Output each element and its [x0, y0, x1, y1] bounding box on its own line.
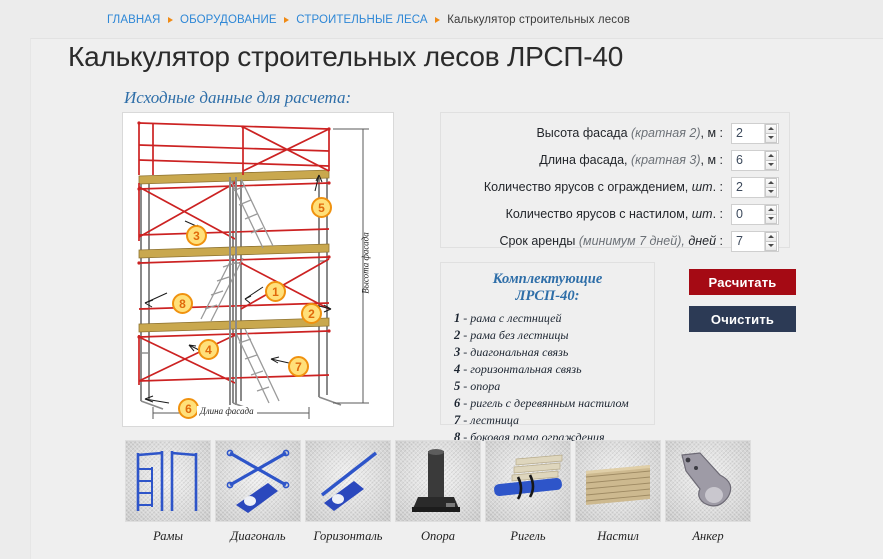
thumbnail-caption: Ригель [485, 529, 571, 544]
form-row-facade-length: Длина фасада, (кратная 3), м : [441, 147, 789, 173]
thumbnail-caption: Горизонталь [305, 529, 391, 544]
input-tiers-with-railing[interactable] [732, 178, 762, 197]
thumbnail-caption: Анкер [665, 529, 751, 544]
scaffolding-diagram-panel: 1 2 3 4 5 6 7 8 Высота фасада Длина фаса… [122, 112, 394, 427]
wooden-deck-icon[interactable] [575, 440, 661, 522]
chevron-up-icon [768, 208, 774, 211]
components-title: Комплектующие ЛРСП-40: [441, 271, 654, 304]
form-row-tiers-with-decking: Количество ярусов с настилом, шт. : [441, 201, 789, 227]
breadcrumb-item-home[interactable]: ГЛАВНАЯ [107, 14, 160, 26]
chevron-down-icon [768, 136, 774, 139]
breadcrumb-item-scaffolding[interactable]: СТРОИТЕЛЬНЫЕ ЛЕСА [296, 14, 427, 26]
dimension-label-length: Длина фасада [197, 406, 257, 416]
list-item: 2 - рама без лестницы [454, 327, 654, 344]
spinner-facade-length[interactable] [731, 150, 779, 171]
thumbnail-anchor[interactable]: Анкер [665, 440, 751, 550]
chevron-up-icon [768, 235, 774, 238]
chevron-down-icon [768, 190, 774, 193]
diagram-marker-1: 1 [265, 281, 286, 302]
spinner-up-button[interactable] [765, 232, 777, 241]
spinner-up-button[interactable] [765, 124, 777, 133]
breadcrumb-item-equipment[interactable]: ОБОРУДОВАНИЕ [180, 14, 277, 26]
list-item: 4 - горизонтальная связь [454, 361, 654, 378]
breadcrumb-separator-icon [435, 17, 440, 23]
spinner-tiers-with-decking[interactable] [731, 204, 779, 225]
label-rental-period: Срок аренды (минимум 7 дней), дней : [499, 234, 723, 248]
form-row-facade-height: Высота фасада (кратная 2), м : [441, 120, 789, 146]
spinner-up-button[interactable] [765, 151, 777, 160]
label-tiers-with-railing: Количество ярусов с ограждением, шт. : [484, 180, 723, 194]
list-item: 3 - диагональная связь [454, 344, 654, 361]
list-item: 5 - опора [454, 378, 654, 395]
anchor-bracket-icon[interactable] [665, 440, 751, 522]
thumbnail-ledger[interactable]: Ригель [485, 440, 571, 550]
calculator-page: ГЛАВНАЯ ОБОРУДОВАНИЕ СТРОИТЕЛЬНЫЕ ЛЕСА К… [0, 0, 883, 559]
label-facade-height: Высота фасада (кратная 2), м : [536, 126, 723, 140]
thumbnail-frames[interactable]: Рамы [125, 440, 211, 550]
breadcrumb-separator-icon [168, 17, 173, 23]
spinner-up-button[interactable] [765, 205, 777, 214]
scaffold-frame-icon[interactable] [125, 440, 211, 522]
base-jack-icon[interactable] [395, 440, 481, 522]
chevron-up-icon [768, 127, 774, 130]
ledger-beam-icon[interactable] [485, 440, 571, 522]
spinner-tiers-with-railing[interactable] [731, 177, 779, 198]
dimension-label-height: Высота фасада [361, 232, 371, 293]
input-rental-period[interactable] [732, 232, 762, 251]
thumbnail-base-jack[interactable]: Опора [395, 440, 481, 550]
spinner-up-button[interactable] [765, 178, 777, 187]
spinner-rental-period[interactable] [731, 231, 779, 252]
form-row-rental-period: Срок аренды (минимум 7 дней), дней : [441, 228, 789, 254]
page-title: Калькулятор строительных лесов ЛРСП-40 [68, 41, 623, 73]
input-facade-length[interactable] [732, 151, 762, 170]
input-form-panel: Высота фасада (кратная 2), м : Длина фас… [440, 112, 790, 248]
breadcrumb-item-current: Калькулятор строительных лесов [447, 14, 630, 26]
spinner-down-button[interactable] [765, 241, 777, 251]
clear-button[interactable]: Очистить [689, 306, 796, 332]
diagram-marker-6: 6 [178, 398, 199, 419]
spinner-down-button[interactable] [765, 187, 777, 197]
breadcrumb: ГЛАВНАЯ ОБОРУДОВАНИЕ СТРОИТЕЛЬНЫЕ ЛЕСА К… [107, 14, 630, 26]
spinner-down-button[interactable] [765, 214, 777, 224]
section-heading-input-data: Исходные данные для расчета: [124, 88, 351, 108]
thumbnail-caption: Диагональ [215, 529, 301, 544]
input-facade-height[interactable] [732, 124, 762, 143]
thumbnail-caption: Опора [395, 529, 481, 544]
components-legend-panel: Комплектующие ЛРСП-40: 1 - рама с лестни… [440, 262, 655, 425]
spinner-buttons[interactable] [764, 151, 777, 170]
diagram-marker-2: 2 [301, 303, 322, 324]
diagram-marker-3: 3 [186, 225, 207, 246]
spinner-buttons[interactable] [764, 232, 777, 251]
spinner-down-button[interactable] [765, 133, 777, 143]
calculate-button[interactable]: Расчитать [689, 269, 796, 295]
input-tiers-with-decking[interactable] [732, 205, 762, 224]
components-title-line2: ЛРСП-40: [441, 288, 654, 305]
horizontal-brace-icon[interactable] [305, 440, 391, 522]
diagram-marker-5: 5 [311, 197, 332, 218]
chevron-down-icon [768, 244, 774, 247]
product-thumbnails-strip: Рамы Диагональ [125, 440, 756, 550]
spinner-down-button[interactable] [765, 160, 777, 170]
chevron-up-icon [768, 181, 774, 184]
components-title-line1: Комплектующие [441, 271, 654, 288]
scaffolding-diagram: 1 2 3 4 5 6 7 8 Высота фасада Длина фаса… [123, 113, 393, 426]
spinner-buttons[interactable] [764, 124, 777, 143]
breadcrumb-separator-icon [284, 17, 289, 23]
spinner-buttons[interactable] [764, 178, 777, 197]
components-list: 1 - рама с лестницей 2 - рама без лестни… [454, 310, 654, 446]
thumbnail-diagonal[interactable]: Диагональ [215, 440, 301, 550]
list-item: 7 - лестница [454, 412, 654, 429]
chevron-up-icon [768, 154, 774, 157]
diagram-marker-8: 8 [172, 293, 193, 314]
label-facade-length: Длина фасада, (кратная 3), м : [539, 153, 723, 167]
diagram-marker-4: 4 [198, 339, 219, 360]
list-item: 6 - ригель с деревянным настилом [454, 395, 654, 412]
form-row-tiers-with-railing: Количество ярусов с ограждением, шт. : [441, 174, 789, 200]
thumbnail-caption: Рамы [125, 529, 211, 544]
label-tiers-with-decking: Количество ярусов с настилом, шт. : [506, 207, 723, 221]
spinner-facade-height[interactable] [731, 123, 779, 144]
diagram-marker-7: 7 [288, 356, 309, 377]
list-item: 1 - рама с лестницей [454, 310, 654, 327]
diagonal-brace-icon[interactable] [215, 440, 301, 522]
thumbnail-decking[interactable]: Настил [575, 440, 661, 550]
chevron-down-icon [768, 217, 774, 220]
spinner-buttons[interactable] [764, 205, 777, 224]
thumbnail-horizontal[interactable]: Горизонталь [305, 440, 391, 550]
chevron-down-icon [768, 163, 774, 166]
thumbnail-caption: Настил [575, 529, 661, 544]
